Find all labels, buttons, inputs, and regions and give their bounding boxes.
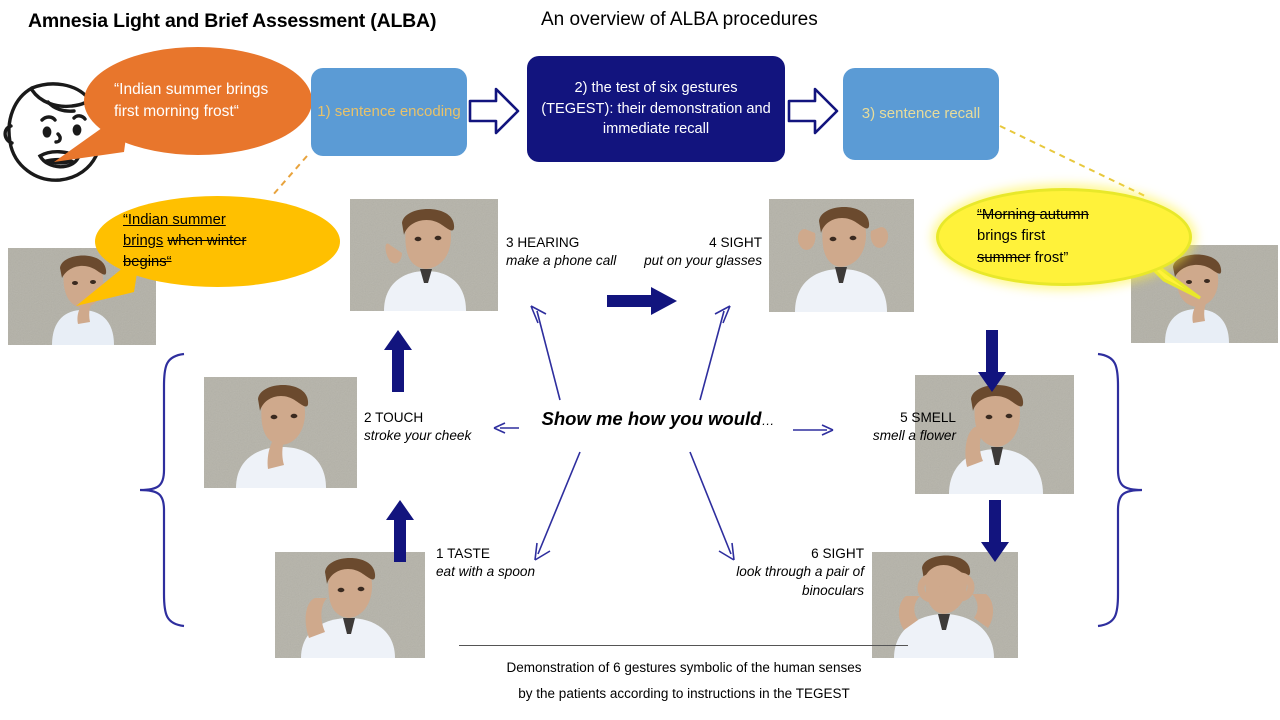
gesture-label-3: 3 HEARING make a phone call: [506, 234, 626, 271]
flow-arrow-down-right-lower: [981, 500, 1009, 562]
right-curly-brace: [1090, 352, 1148, 628]
left-recall-line2-error: when winter: [167, 233, 246, 249]
left-recall-speech-bubble: “Indian summer brings when winter begins…: [95, 196, 340, 287]
gesture-4-number: 4 SIGHT: [709, 235, 762, 250]
patient-photo-gesture-4: [769, 199, 914, 312]
flow-arrow-right-top: [607, 287, 677, 315]
gesture-6-instruction: look through a pair of binoculars: [718, 563, 864, 600]
center-prompt-text: Show me how you would: [542, 408, 762, 429]
right-recall-speech-bubble: “Morning autumn brings first summer fros…: [936, 188, 1192, 286]
hollow-right-arrow-icon-2: [785, 83, 841, 139]
gesture-2-instruction: stroke your cheek: [364, 427, 496, 445]
footer-caption: Demonstration of 6 gestures symbolic of …: [404, 655, 964, 708]
gesture-label-5: 5 SMELL smell a flower: [840, 409, 956, 446]
gesture-label-1: 1 TASTE eat with a spoon: [436, 545, 571, 582]
right-recall-line1-error: “Morning autumn: [977, 207, 1089, 223]
encoding-speech-bubble: “Indian summer brings first morning fros…: [84, 47, 312, 155]
right-recall-line3-correct: frost”: [1035, 250, 1069, 266]
right-recall-text: “Morning autumn brings first summer fros…: [939, 205, 1103, 269]
center-prompt-ellipsis: …: [761, 413, 774, 428]
left-recall-line2-correct: brings: [123, 233, 163, 249]
page-subtitle: An overview of ALBA procedures: [541, 9, 818, 31]
flow-arrow-up-left-lower: [386, 500, 414, 562]
left-recall-text: “Indian summer brings when winter begins…: [95, 210, 260, 274]
center-prompt: Show me how you would…: [527, 408, 789, 430]
patient-photo-gesture-3: [350, 199, 498, 311]
left-curly-brace: [134, 352, 192, 628]
patient-photo-gesture-6: [872, 552, 1018, 658]
process-step-2-label: 2) the test of six gestures (TEGEST): th…: [527, 78, 785, 140]
gesture-1-number: 1 TASTE: [436, 546, 490, 561]
left-recall-line3-error: begins“: [123, 254, 172, 270]
gesture-label-4: 4 SIGHT put on your glasses: [636, 234, 762, 271]
encoding-quote-text: “Indian summer brings first morning fros…: [84, 79, 312, 123]
gesture-label-2: 2 TOUCH stroke your cheek: [364, 409, 496, 446]
patient-photo-gesture-1: [275, 552, 425, 658]
hollow-right-arrow-icon-1: [466, 83, 522, 139]
process-step-2-tegest[interactable]: 2) the test of six gestures (TEGEST): th…: [527, 56, 785, 162]
gesture-5-number: 5 SMELL: [900, 410, 956, 425]
process-step-3-sentence-recall[interactable]: 3) sentence recall: [843, 68, 999, 160]
gesture-1-instruction: eat with a spoon: [436, 563, 571, 581]
gesture-4-instruction: put on your glasses: [636, 252, 762, 270]
footer-caption-line2: by the patients according to instruction…: [404, 681, 964, 707]
left-recall-line1: “Indian summer: [123, 212, 226, 228]
process-step-1-sentence-encoding[interactable]: 1) sentence encoding: [311, 68, 467, 156]
flow-arrow-down-right-upper: [978, 330, 1006, 392]
gesture-6-number: 6 SIGHT: [811, 546, 864, 561]
flow-arrow-up-left-upper: [384, 330, 412, 392]
footer-caption-line1: Demonstration of 6 gestures symbolic of …: [404, 655, 964, 681]
right-recall-line3-error: summer: [977, 250, 1030, 266]
gesture-label-6: 6 SIGHT look through a pair of binocular…: [718, 545, 864, 600]
right-recall-line2-correct: brings first: [977, 228, 1045, 244]
gesture-3-number: 3 HEARING: [506, 235, 579, 250]
process-step-3-label: 3) sentence recall: [862, 103, 980, 125]
gesture-3-instruction: make a phone call: [506, 252, 626, 270]
page-title: Amnesia Light and Brief Assessment (ALBA…: [28, 10, 436, 33]
footer-divider: [459, 645, 908, 646]
gesture-5-instruction: smell a flower: [840, 427, 956, 445]
gesture-2-number: 2 TOUCH: [364, 410, 423, 425]
process-step-1-label: 1) sentence encoding: [317, 101, 460, 123]
patient-photo-gesture-2: [204, 377, 357, 488]
